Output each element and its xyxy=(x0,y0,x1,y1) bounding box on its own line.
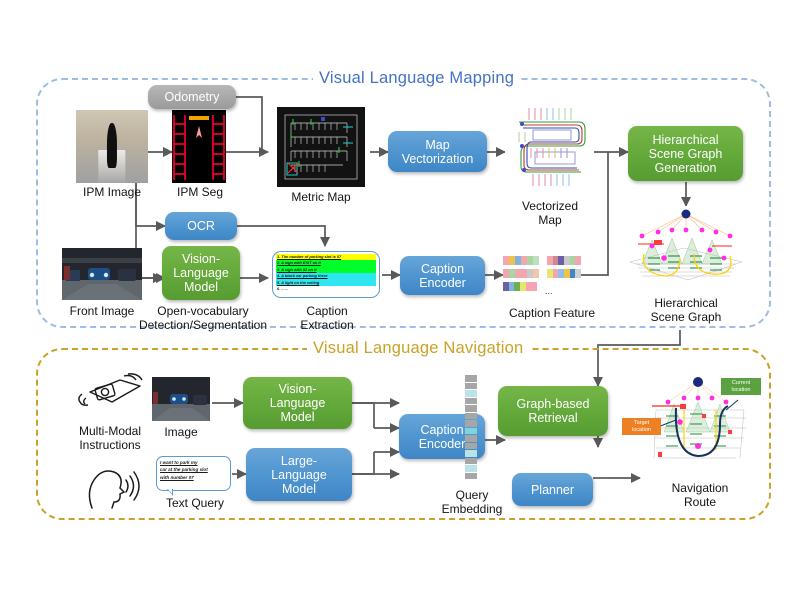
label-ipm-seg: IPM Seg xyxy=(155,186,245,200)
query-embedding-cell xyxy=(465,458,477,465)
text-query-line: car at the parking slot xyxy=(160,466,227,473)
caption-extraction-panel: 1. The number of parking slot is 072. A … xyxy=(272,251,380,298)
tag-current-location: Current location xyxy=(721,378,761,395)
query-embedding-cell xyxy=(465,443,477,450)
thumbnail-metric-map xyxy=(277,107,365,187)
node-hsg-generation-label: Hierarchical Scene Graph Generation xyxy=(649,133,723,175)
section-title-navigation: Visual Language Navigation xyxy=(307,339,529,358)
label-query-embedding: Query Embedding xyxy=(437,489,507,516)
node-vision-language-model-navigation[interactable]: Vision- Language Model xyxy=(243,377,352,429)
thumbnail-vectorized-map xyxy=(505,100,594,205)
thumbnail-ipm-image xyxy=(76,110,148,183)
speaking-head-icon xyxy=(76,462,140,510)
label-metric-map: Metric Map xyxy=(266,191,376,205)
caption-feature-ellipsis: ... xyxy=(545,286,553,296)
query-embedding-cell xyxy=(465,428,477,435)
caption-feature-strip xyxy=(503,256,539,265)
node-caption-encoder-mapping-label: Caption Encoder xyxy=(419,262,466,290)
caption-feature-strip xyxy=(547,269,581,278)
caption-feature-strip xyxy=(547,256,581,265)
caption-feature-grid xyxy=(503,256,581,296)
query-embedding-cell xyxy=(465,383,477,390)
node-caption-encoder-mapping[interactable]: Caption Encoder xyxy=(400,256,485,295)
figure-canvas: Visual Language Mapping Odometry IPM Ima… xyxy=(0,0,800,600)
thumbnail-ipm-seg xyxy=(172,110,226,183)
label-navigation-route: Navigation Route xyxy=(645,482,755,509)
query-embedding-cell xyxy=(465,405,477,412)
bubble-tail-inner xyxy=(168,489,172,494)
node-large-language-model[interactable]: Large- Language Model xyxy=(246,448,352,501)
query-embedding-cell xyxy=(465,390,477,397)
node-llm-label: Large- Language Model xyxy=(271,454,327,496)
query-embedding-cell xyxy=(465,420,477,427)
text-query-line: I want to park my xyxy=(160,459,227,466)
node-map-vectorization[interactable]: Map Vectorization xyxy=(388,131,487,172)
text-query-bubble: I want to park mycar at the parking slot… xyxy=(156,456,231,491)
query-embedding-cell xyxy=(465,398,477,405)
query-embedding-cell xyxy=(465,413,477,420)
section-title-mapping: Visual Language Mapping xyxy=(313,69,520,88)
caption-feature-strip xyxy=(503,269,539,278)
label-ipm-image: IPM Image xyxy=(56,186,168,200)
label-caption-feature: Caption Feature xyxy=(492,307,612,321)
label-hierarchical-scene-graph: Hierarchical Scene Graph xyxy=(630,297,742,324)
node-caption-encoder-nav-label: Caption Encoder xyxy=(419,423,466,451)
label-text-query: Text Query xyxy=(155,497,235,511)
label-nav-image: Image xyxy=(146,426,216,440)
node-ocr[interactable]: OCR xyxy=(165,212,237,240)
thumbnail-hierarchical-scene-graph xyxy=(624,206,748,294)
label-caption-extraction: Caption Extraction xyxy=(292,305,362,332)
query-embedding-cell xyxy=(465,465,477,472)
node-hierarchical-scene-graph-generation[interactable]: Hierarchical Scene Graph Generation xyxy=(628,126,743,181)
thumbnail-front-image xyxy=(62,248,142,300)
label-open-vocabulary: Open-vocabulary Detection/Segmentation xyxy=(133,305,273,332)
node-odometry[interactable]: Odometry xyxy=(148,85,236,109)
query-embedding-cell xyxy=(465,375,477,382)
node-vision-language-model-mapping[interactable]: Vision- Language Model xyxy=(162,246,240,300)
tag-target-location: Target location xyxy=(622,418,661,435)
node-graph-based-retrieval[interactable]: Graph-based Retrieval xyxy=(498,386,608,436)
query-embedding-cell xyxy=(465,473,477,480)
node-map-vectorization-label: Map Vectorization xyxy=(402,138,474,166)
node-vlm-mapping-label: Vision- Language Model xyxy=(173,252,229,294)
text-query-line: with number 07 xyxy=(160,474,227,481)
node-planner[interactable]: Planner xyxy=(512,473,593,506)
caption-feature-strip xyxy=(503,282,537,291)
node-graph-retrieval-label: Graph-based Retrieval xyxy=(517,397,590,425)
hand-pointing-icon xyxy=(68,372,148,414)
query-embedding-column xyxy=(465,375,477,487)
caption-line: 6. ...... xyxy=(276,286,376,292)
thumbnail-nav-image xyxy=(152,377,210,421)
query-embedding-cell xyxy=(465,450,477,457)
label-vectorized-map: Vectorized Map xyxy=(500,200,600,227)
query-embedding-cell xyxy=(465,435,477,442)
node-vlm-nav-label: Vision- Language Model xyxy=(270,382,326,424)
